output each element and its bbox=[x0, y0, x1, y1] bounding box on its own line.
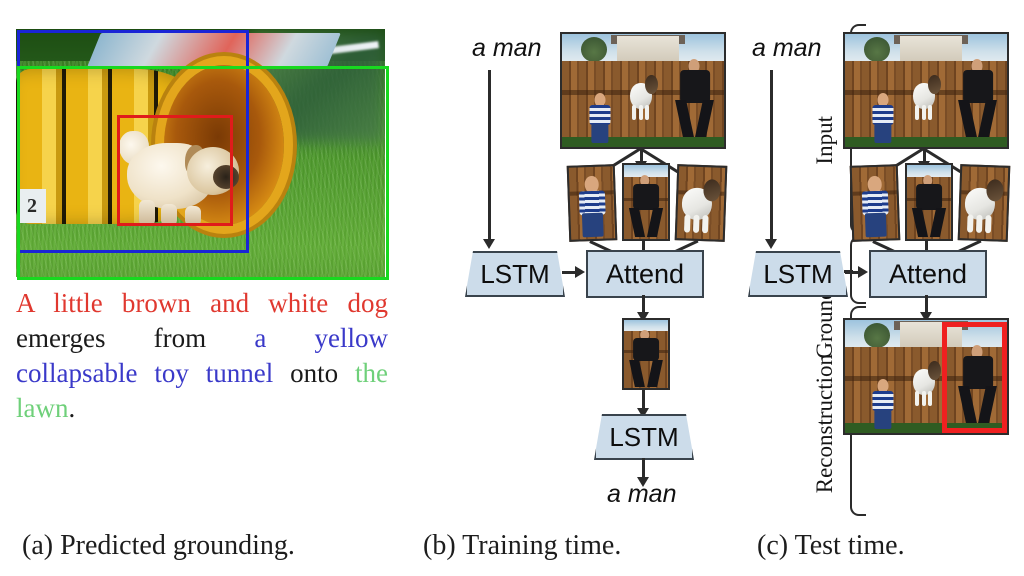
caption-segment-dog: A little brown and white dog bbox=[16, 288, 388, 318]
scene-dog bbox=[964, 178, 1005, 234]
scene-man bbox=[632, 330, 660, 386]
subcaption-a: (a) Predicted grounding. bbox=[22, 530, 295, 562]
dog-leg bbox=[645, 105, 649, 120]
attend-node-b[interactable]: Attend bbox=[586, 250, 704, 298]
child-shirt bbox=[590, 105, 611, 125]
scene-child bbox=[862, 175, 890, 236]
child-pants bbox=[591, 124, 608, 144]
dog-leg bbox=[928, 105, 932, 120]
scene-child bbox=[873, 93, 894, 143]
scene-child bbox=[579, 175, 607, 236]
arrow-lstm-to-attend-b bbox=[562, 271, 576, 274]
scene-lawn bbox=[845, 137, 1007, 147]
subcaption-c: (c) Test time. bbox=[757, 530, 905, 562]
lstm-decoder-b[interactable]: LSTM bbox=[594, 414, 694, 460]
caption-segment-onto: onto bbox=[273, 358, 355, 388]
dog-leg bbox=[976, 214, 982, 233]
arrow-phrase-to-lstm-b bbox=[488, 70, 491, 240]
man-leg bbox=[629, 208, 645, 237]
attend-node-c[interactable]: Attend bbox=[869, 250, 987, 298]
dog-head bbox=[703, 179, 722, 203]
caption-segment-emerges: emerges from bbox=[16, 323, 254, 353]
child-shirt bbox=[873, 105, 894, 125]
dog-leg bbox=[915, 105, 919, 120]
input-phrase-b: a man bbox=[472, 34, 541, 63]
proposal-child-c bbox=[850, 164, 901, 242]
dog-leg bbox=[985, 215, 991, 234]
proposal-man-b bbox=[622, 163, 670, 241]
arrow-attend-to-result-c bbox=[925, 295, 928, 313]
result-scene-image-c bbox=[843, 318, 1009, 435]
dog-leg bbox=[702, 215, 708, 234]
bbox-dog-red bbox=[117, 115, 233, 226]
dog-leg bbox=[928, 391, 932, 406]
child-pants bbox=[874, 124, 891, 144]
input-scene-image-c bbox=[843, 32, 1009, 149]
figure-root: 2 A little brown and white dog emerges f… bbox=[0, 0, 1024, 576]
caption-segment-period: . bbox=[68, 393, 75, 423]
proposal-man-c bbox=[905, 163, 953, 241]
dog-head bbox=[645, 75, 658, 94]
arrow-lstm-to-attend-c bbox=[845, 271, 859, 274]
man-shirt bbox=[916, 184, 942, 209]
arrow-lstm-decoder-to-output-b bbox=[642, 458, 645, 478]
child-shirt bbox=[873, 391, 894, 411]
predicted-bbox-red bbox=[942, 322, 1007, 433]
scene-lawn bbox=[562, 137, 724, 147]
dog-leg bbox=[639, 105, 643, 120]
subcaption-b: (b) Training time. bbox=[423, 530, 621, 562]
dog-head bbox=[928, 361, 941, 380]
proposal-dog-b bbox=[675, 164, 728, 242]
child-shirt bbox=[579, 190, 605, 215]
man-shirt bbox=[963, 70, 993, 102]
dog-leg bbox=[693, 214, 699, 233]
dog-leg bbox=[967, 214, 973, 233]
scene-dog bbox=[913, 75, 941, 120]
selected-region-b bbox=[622, 318, 670, 390]
scene-child bbox=[590, 93, 611, 143]
dog-leg bbox=[922, 105, 926, 120]
scene-man bbox=[915, 175, 943, 236]
child-shirt bbox=[862, 190, 888, 215]
panel-test-time: a man bbox=[730, 0, 1024, 576]
child-pants bbox=[874, 410, 891, 430]
child-pants bbox=[582, 213, 604, 238]
input-scene-image-b bbox=[560, 32, 726, 149]
man-shirt bbox=[633, 184, 659, 209]
scene-child bbox=[873, 379, 894, 429]
dog-leg bbox=[632, 105, 636, 120]
scene-man bbox=[962, 59, 994, 136]
man-shirt bbox=[680, 70, 710, 102]
man-shirt bbox=[633, 338, 659, 361]
panel-predicted-grounding: 2 A little brown and white dog emerges f… bbox=[0, 0, 400, 576]
scene-man bbox=[632, 175, 660, 236]
child-pants bbox=[865, 213, 887, 238]
arrow-attend-to-selected-b bbox=[642, 295, 645, 313]
proposal-dog-c bbox=[958, 164, 1011, 242]
proposal-child-b bbox=[567, 164, 618, 242]
input-phrase-c: a man bbox=[752, 34, 821, 63]
man-leg bbox=[675, 100, 694, 137]
scene-dog bbox=[630, 75, 658, 120]
dog-leg bbox=[684, 214, 690, 233]
scene-dog bbox=[913, 361, 941, 406]
arrow-selected-to-lstm-decoder-b bbox=[642, 389, 645, 409]
scene-man bbox=[679, 59, 711, 136]
man-leg bbox=[647, 360, 662, 387]
output-phrase-b: a man bbox=[607, 480, 676, 509]
lstm-encoder-c[interactable]: LSTM bbox=[748, 251, 848, 297]
lstm-encoder-b[interactable]: LSTM bbox=[465, 251, 565, 297]
dog-leg bbox=[915, 391, 919, 406]
arrow-phrase-to-lstm-c bbox=[770, 70, 773, 240]
panel-training-time: Input Grounding Reconstruction a man bbox=[400, 0, 730, 576]
man-leg bbox=[912, 208, 928, 237]
dog-head bbox=[928, 75, 941, 94]
man-leg bbox=[630, 360, 645, 387]
dog-leg bbox=[922, 391, 926, 406]
scene-dog bbox=[681, 178, 722, 234]
grounded-caption: A little brown and white dog emerges fro… bbox=[16, 286, 388, 426]
dog-head bbox=[986, 179, 1005, 203]
man-leg bbox=[958, 100, 977, 137]
